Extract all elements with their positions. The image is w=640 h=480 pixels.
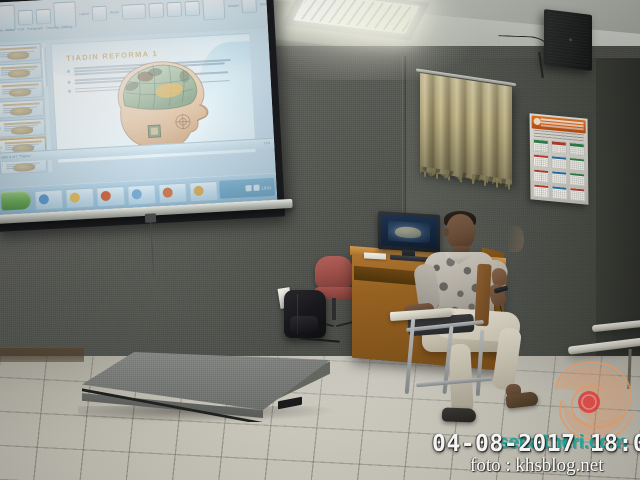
presenter-sandal xyxy=(505,391,538,409)
curtain-shading xyxy=(420,73,512,185)
screen-surface: Layout Reset Shapes Arrange xyxy=(0,0,277,215)
taskbar-item-document[interactable] xyxy=(158,183,187,203)
taskbar-item-media-icon xyxy=(131,189,142,200)
poster-month-cell xyxy=(533,168,549,183)
photo-credit: foto : khsblog.net xyxy=(470,455,604,477)
poster-month-cell xyxy=(533,139,549,154)
red-office-chair-post xyxy=(332,298,336,320)
system-tray[interactable]: 18:01 xyxy=(219,178,275,199)
slide-thumbnail[interactable]: 4 xyxy=(0,99,44,118)
arrange-button[interactable] xyxy=(242,0,258,13)
shapes-button[interactable] xyxy=(202,0,225,20)
taskbar-item-browser-icon xyxy=(39,194,50,205)
ppt-workspace: 1234567 TIADIN REFORMA 1 xyxy=(0,28,276,189)
thumbnail-image xyxy=(10,107,32,116)
taskbar-item-image[interactable] xyxy=(189,181,218,201)
wall-mounted-speaker xyxy=(544,9,592,71)
taskbar-item-folder[interactable] xyxy=(65,188,94,208)
taskbar-item-image-icon xyxy=(193,186,204,197)
poster-month-cell xyxy=(569,187,585,202)
poster-month-cell xyxy=(551,185,567,200)
powerpoint-window[interactable]: Layout Reset Shapes Arrange xyxy=(0,0,277,215)
far-right-wall xyxy=(596,58,640,358)
camera-timestamp: 04-08-2017 18:01 xyxy=(432,431,640,457)
chair-metal-frame xyxy=(404,318,500,414)
status-zoom-level: 73% xyxy=(263,140,270,144)
curtain-fabric xyxy=(420,73,512,185)
taskbar-item-folder-icon xyxy=(70,192,81,203)
presenter-face-shading xyxy=(508,226,524,252)
poster-month-cell xyxy=(533,153,549,168)
slide-thumbnail[interactable]: 5 xyxy=(0,118,45,137)
screen-frame: Layout Reset Shapes Arrange xyxy=(0,0,285,232)
wall-calendar-poster xyxy=(530,113,589,205)
thumbnail-image xyxy=(9,88,31,97)
photo-canvas: Layout Reset Shapes Arrange xyxy=(0,0,640,480)
papers-on-desk xyxy=(364,252,386,259)
find-button[interactable] xyxy=(275,0,278,11)
status-slide-indicator: Slide 6 of 7 "Theme" xyxy=(0,153,31,159)
presenter-ear xyxy=(444,228,449,236)
ribbon-label-reset: Reset xyxy=(110,10,119,14)
taskbar-item-document-icon xyxy=(162,187,173,198)
thumbnail-image xyxy=(11,125,33,134)
poster-month-cell xyxy=(551,155,567,170)
ribbon-label-shapes: Shapes xyxy=(228,3,240,8)
ribbon-group-editing: Editing xyxy=(61,25,72,30)
taskbar-item-browser[interactable] xyxy=(34,189,63,209)
black-backpack xyxy=(284,290,326,338)
poster-logo xyxy=(533,118,540,126)
thumbnail-image xyxy=(13,163,35,172)
ribbon-group-drawing: Drawing xyxy=(46,25,59,30)
ribbon-group-font: Font xyxy=(18,27,25,31)
taskbar-item-powerpoint[interactable] xyxy=(96,186,125,206)
thumbnail-number: 6 xyxy=(0,145,2,149)
backpack-front-pocket xyxy=(290,316,318,333)
ribbon-label-layout: Layout xyxy=(79,12,89,17)
slide-thumbnail[interactable]: 3 xyxy=(0,81,43,100)
font-selector[interactable] xyxy=(121,3,146,19)
thumbnail-image xyxy=(8,69,30,78)
poster-month-cell xyxy=(551,170,567,185)
bold-button[interactable] xyxy=(148,2,164,18)
taskbar-item-media[interactable] xyxy=(127,184,156,204)
cut-button[interactable] xyxy=(18,9,34,25)
slide-thumbnail[interactable]: 2 xyxy=(0,62,42,81)
presenter-head xyxy=(446,214,475,249)
red-office-chair-backrest xyxy=(315,256,353,288)
poster-month-cell xyxy=(551,140,567,155)
pull-down-projection-screen: Layout Reset Shapes Arrange xyxy=(0,0,299,266)
reset-button[interactable] xyxy=(92,5,108,21)
speaker-driver-dot xyxy=(569,38,572,41)
italic-button[interactable] xyxy=(166,1,182,17)
window-curtain xyxy=(420,73,514,195)
poster-month-grid xyxy=(533,139,586,202)
slide-thumbnail[interactable]: 1 xyxy=(0,43,41,62)
thumbnail-image xyxy=(7,51,29,60)
poster-month-cell xyxy=(568,142,584,157)
tray-icon-volume[interactable] xyxy=(245,185,251,191)
ribbon-group-paste: Paste xyxy=(0,28,2,32)
ribbon-label-arrange: Arrange xyxy=(260,2,272,7)
poster-month-cell xyxy=(569,157,585,172)
ribbon-group-paragraph: Paragraph xyxy=(27,26,43,31)
thumbnail-number: 7 xyxy=(1,164,3,168)
taskbar-item-powerpoint-icon xyxy=(101,191,112,202)
tray-clock[interactable]: 18:01 xyxy=(261,184,271,190)
speaker-grill xyxy=(547,12,589,67)
start-button[interactable] xyxy=(0,190,31,211)
screen-pull-handle[interactable] xyxy=(145,213,156,223)
poster-month-cell xyxy=(533,183,549,198)
floor-baseboard xyxy=(0,348,84,362)
poster-month-cell xyxy=(569,172,585,187)
underline-button[interactable] xyxy=(184,0,200,16)
thumbnail-number: 5 xyxy=(0,126,1,130)
ribbon-group-slides: Slides xyxy=(5,28,14,32)
tray-icon-network[interactable] xyxy=(253,185,259,191)
copy-button[interactable] xyxy=(36,8,52,24)
